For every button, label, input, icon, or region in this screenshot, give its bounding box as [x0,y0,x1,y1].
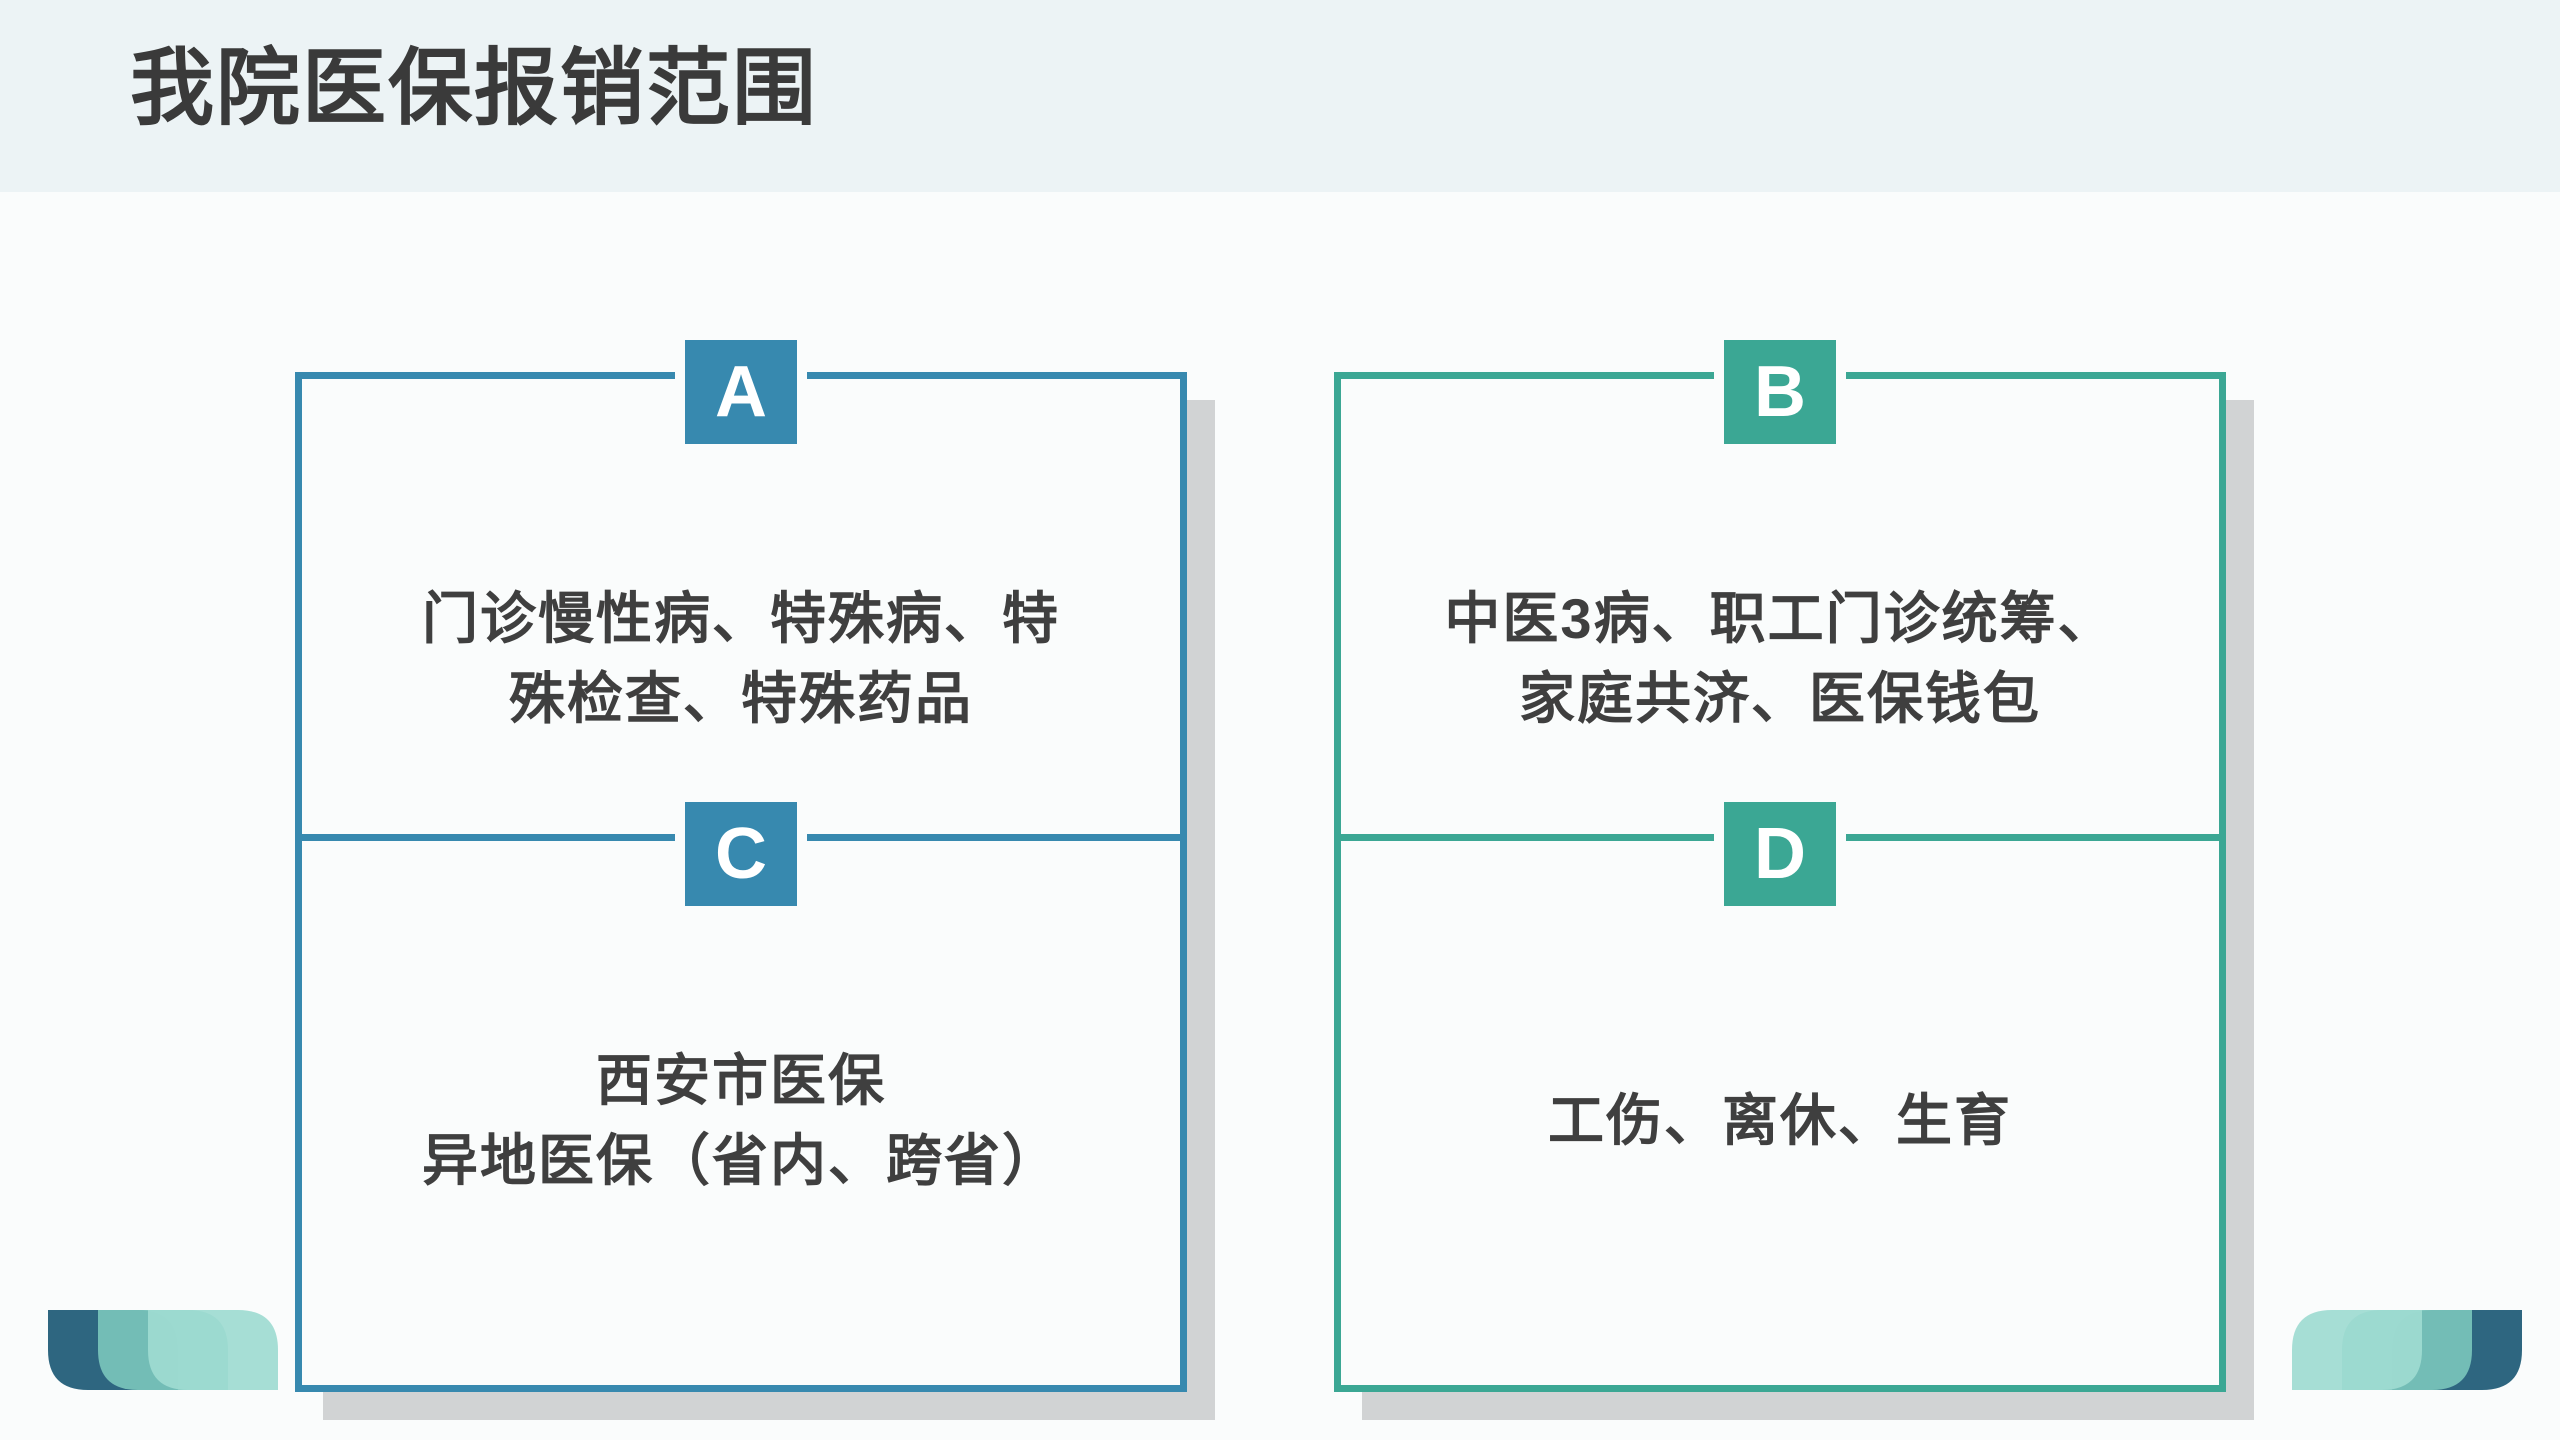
card-c-badge: C [685,802,797,906]
card-board: 门诊慢性病、特殊病、特 殊检查、特殊药品 A 中医3病、职工门诊统筹、 家庭共济… [0,192,2560,1440]
decoration-right-chevrons [2242,1290,2542,1410]
card-a-badge: A [685,340,797,444]
card-d-badge: D [1724,802,1836,906]
card-d[interactable]: 工伤、离休、生育 D [1334,834,2226,1392]
card-d-frame: 工伤、离休、生育 [1334,834,2226,1392]
page-title: 我院医保报销范围 [130,44,818,132]
card-c-frame: 西安市医保 异地医保（省内、跨省） [295,834,1187,1392]
card-b-badge: B [1724,340,1836,444]
card-d-text: 工伤、离休、生育 [1341,841,2219,1385]
card-c[interactable]: 西安市医保 异地医保（省内、跨省） C [295,834,1187,1392]
card-c-text: 西安市医保 异地医保（省内、跨省） [302,841,1180,1385]
decoration-left-chevrons [28,1290,328,1410]
